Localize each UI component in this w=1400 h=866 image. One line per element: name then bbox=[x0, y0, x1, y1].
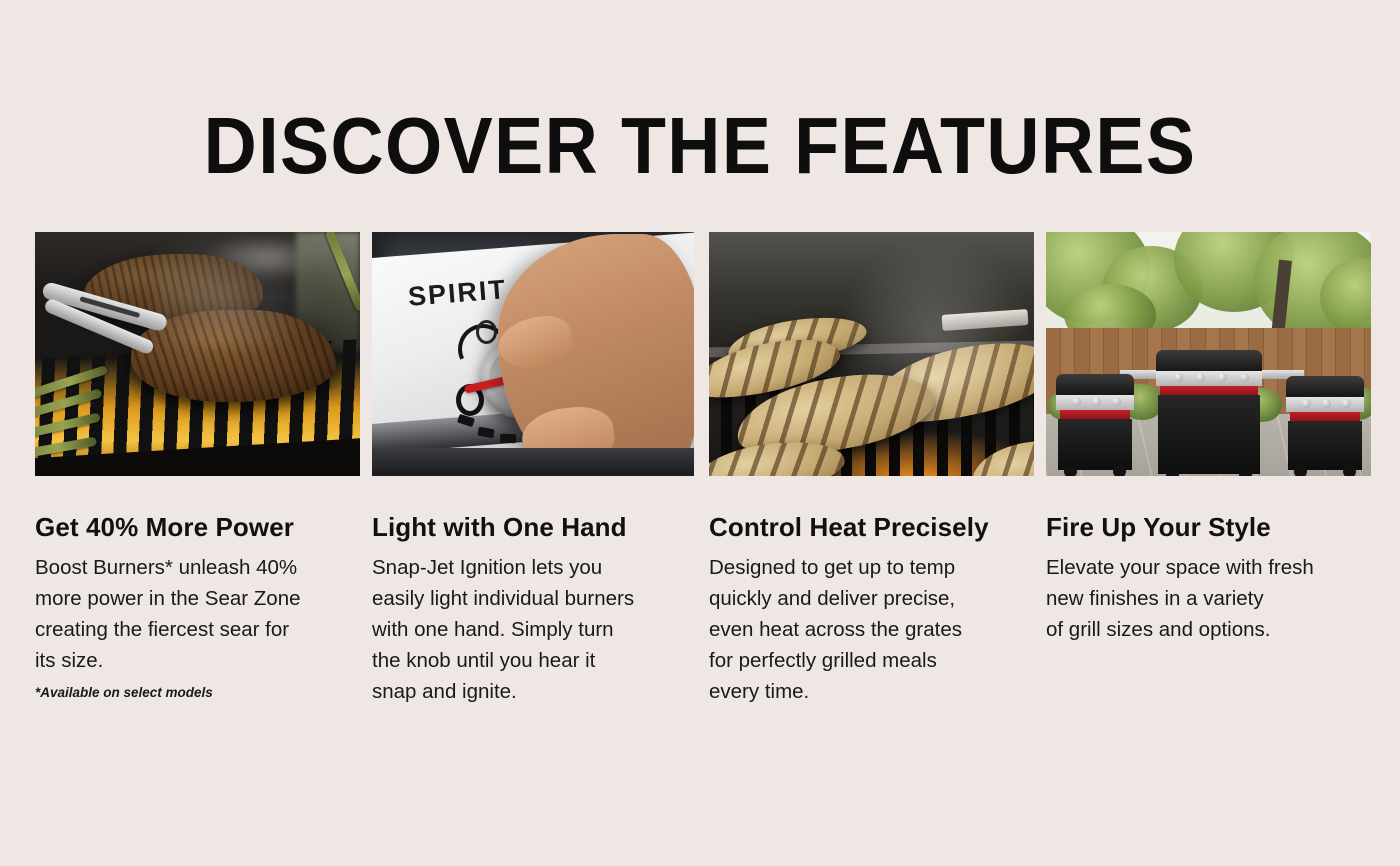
grill-left bbox=[1056, 374, 1134, 476]
control-knob bbox=[1302, 399, 1311, 408]
feature-body: Snap-Jet Ignition lets you easily light … bbox=[372, 552, 697, 707]
ignition-o-marking bbox=[476, 320, 497, 344]
grill-cabinet bbox=[1158, 395, 1260, 474]
grill-wheel bbox=[1239, 469, 1252, 476]
grill-wheel bbox=[1294, 465, 1307, 476]
feature-body: Boost Burners* unleash 40% more power in… bbox=[35, 552, 360, 676]
grill-wheel bbox=[1064, 465, 1077, 476]
control-knob bbox=[1240, 373, 1249, 382]
grill-cabinet bbox=[1058, 419, 1132, 470]
control-knob bbox=[1342, 399, 1351, 408]
feature-card-grid: Get 40% More Power Boost Burners* unleas… bbox=[35, 232, 1365, 716]
feature-body: Elevate your space with fresh new finish… bbox=[1046, 552, 1371, 645]
feature-section: DISCOVER THE FEATURES bbox=[0, 0, 1400, 866]
feature-title: Get 40% More Power bbox=[35, 512, 360, 542]
feature-title: Fire Up Your Style bbox=[1046, 512, 1371, 542]
smoke-haze bbox=[849, 232, 1034, 422]
spirit-knob-ignition-photo: SPIRIT bbox=[372, 232, 694, 476]
control-knob bbox=[1092, 397, 1101, 406]
control-knob bbox=[1322, 399, 1331, 408]
grill-lid bbox=[1156, 350, 1262, 372]
feature-card[interactable]: SPIRIT Light with One Hand Snap-Jet Igni… bbox=[372, 232, 697, 716]
grill-cabinet bbox=[1288, 421, 1362, 470]
smoke-haze bbox=[155, 232, 325, 346]
control-knob bbox=[1112, 397, 1121, 406]
grill-right bbox=[1286, 376, 1364, 476]
control-knob bbox=[1072, 397, 1081, 406]
grill-center bbox=[1156, 350, 1262, 476]
feature-card[interactable]: Fire Up Your Style Elevate your space wi… bbox=[1046, 232, 1371, 654]
three-grills-patio-photo bbox=[1046, 232, 1371, 476]
grill-lid bbox=[1286, 376, 1364, 398]
steaks-on-grill-photo bbox=[35, 232, 360, 476]
grill-wheel bbox=[1166, 469, 1179, 476]
control-knob bbox=[1218, 373, 1227, 382]
control-knob bbox=[1174, 373, 1183, 382]
grill-wheel bbox=[1343, 465, 1356, 476]
feature-body: Designed to get up to temp quickly and d… bbox=[709, 552, 1034, 707]
feature-title: Control Heat Precisely bbox=[709, 512, 1034, 542]
grill-lid bbox=[1056, 374, 1134, 396]
control-knob bbox=[1196, 373, 1205, 382]
grill-wheel bbox=[1113, 465, 1126, 476]
page-title: DISCOVER THE FEATURES bbox=[56, 106, 1344, 186]
feature-card[interactable]: Control Heat Precisely Designed to get u… bbox=[709, 232, 1034, 716]
grilled-chicken-photo bbox=[709, 232, 1034, 476]
feature-card[interactable]: Get 40% More Power Boost Burners* unleas… bbox=[35, 232, 360, 701]
feature-footnote: *Available on select models bbox=[35, 685, 360, 701]
background-dark-band bbox=[372, 448, 694, 476]
feature-title: Light with One Hand bbox=[372, 512, 697, 542]
